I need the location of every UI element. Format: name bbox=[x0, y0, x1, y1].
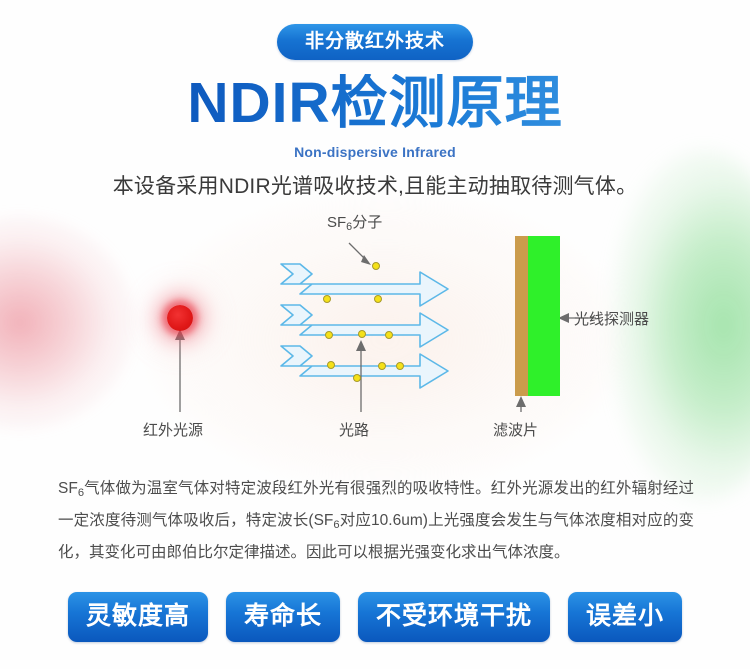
label-ir-source: 红外光源 bbox=[143, 419, 203, 440]
label-filter: 滤波片 bbox=[493, 419, 538, 440]
page-title: NDIR检测原理 bbox=[0, 74, 750, 134]
pointer-arrowheads bbox=[175, 255, 569, 407]
label-molecule-base: SF bbox=[327, 214, 346, 231]
molecule-dot bbox=[378, 362, 386, 370]
optical-filter-plate bbox=[515, 236, 560, 396]
label-molecule: SF6分子 bbox=[327, 211, 382, 233]
molecule-dot bbox=[353, 374, 361, 382]
feature-pill-sensitivity[interactable]: 灵敏度高 bbox=[68, 592, 208, 642]
molecule-dot bbox=[385, 331, 393, 339]
molecule-dot bbox=[372, 262, 380, 270]
section-badge: 非分散红外技术 bbox=[277, 24, 473, 60]
infrared-source-lamp bbox=[167, 305, 193, 331]
principle-paragraph: SF6气体做为温室气体对特定波段红外光有很强烈的吸收特性。红外光源发出的红外辐射… bbox=[58, 475, 694, 566]
molecule-dot bbox=[323, 295, 331, 303]
page-subtitle-english: Non-dispersive Infrared bbox=[0, 144, 750, 160]
feature-pill-error[interactable]: 误差小 bbox=[568, 592, 682, 642]
feature-pill-lifespan[interactable]: 寿命长 bbox=[226, 592, 340, 642]
label-light-path: 光路 bbox=[339, 419, 369, 440]
lead-description: 本设备采用NDIR光谱吸收技术,且能主动抽取待测气体。 bbox=[0, 170, 750, 200]
filter-band-brown bbox=[515, 236, 528, 396]
molecule-dot bbox=[374, 295, 382, 303]
molecule-dot bbox=[396, 362, 404, 370]
feature-pill-row: 灵敏度高 寿命长 不受环境干扰 误差小 bbox=[0, 592, 750, 642]
pointer-lines-svg bbox=[0, 212, 750, 447]
detector-band-green bbox=[528, 236, 560, 396]
molecule-dot bbox=[327, 361, 335, 369]
label-molecule-tail: 分子 bbox=[352, 214, 382, 231]
label-detector: 光线探测器 bbox=[574, 308, 649, 329]
feature-pill-interference[interactable]: 不受环境干扰 bbox=[358, 592, 550, 642]
ndir-principle-diagram: SF6分子 红外光源 光路 滤波片 光线探测器 bbox=[0, 212, 750, 447]
molecule-dot bbox=[325, 331, 333, 339]
arrowhead-filter bbox=[516, 396, 526, 407]
molecule-dot bbox=[358, 330, 366, 338]
page-root: 非分散红外技术 NDIR检测原理 Non-dispersive Infrared… bbox=[0, 0, 750, 669]
paragraph-seg-1: SF bbox=[58, 480, 78, 497]
arrowhead-light-path bbox=[356, 340, 366, 351]
